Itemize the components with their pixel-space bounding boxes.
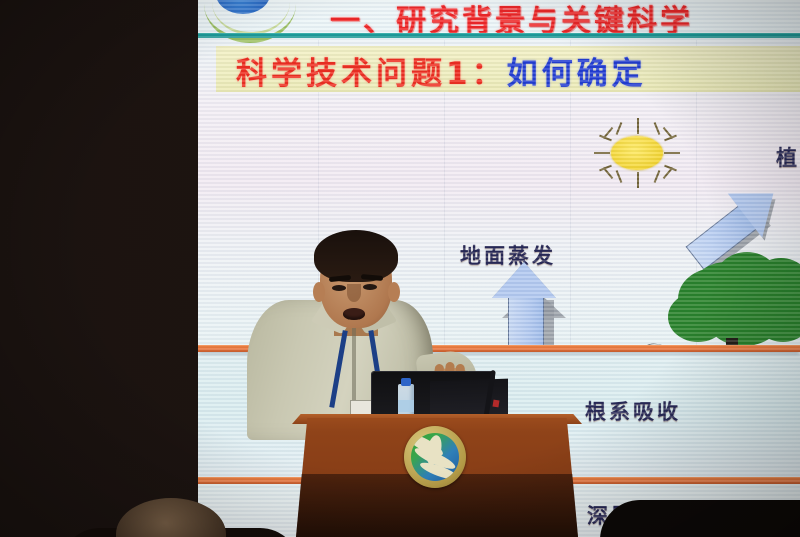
presentation-photo: 一、研究背景与关键科学 科学技术问题1：如何确定 (0, 0, 800, 537)
title-underline (198, 33, 800, 38)
label-root-uptake: 根系吸收 (585, 396, 681, 426)
ear-left (313, 282, 325, 302)
slide-title-band: 一、研究背景与关键科学 (198, 0, 800, 40)
slide-subtitle: 科学技术问题1：如何确定 (236, 48, 647, 93)
bottle-label (398, 400, 414, 412)
subtitle-question-label: 科学技术问题1： (236, 56, 507, 92)
institution-emblem-icon (404, 426, 466, 488)
microphone-band (492, 400, 499, 408)
bottle-cap[interactable] (401, 378, 411, 386)
speaker-hair (314, 230, 398, 282)
label-plant-transpiration: 植 (776, 142, 800, 172)
foreground-shadow-right (600, 500, 800, 537)
eye-right (363, 284, 377, 290)
mouth (343, 308, 365, 320)
subtitle-question-body: 如何确定 (507, 56, 647, 92)
nose (347, 284, 361, 302)
ear-right (388, 282, 400, 302)
eye-left (332, 285, 346, 291)
